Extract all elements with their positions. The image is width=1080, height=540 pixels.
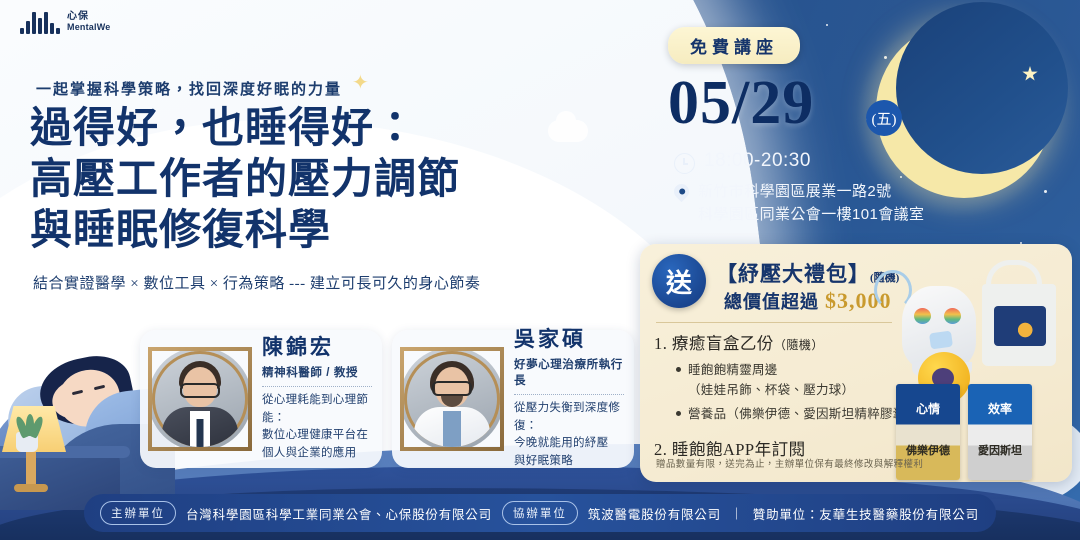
list-item: 1. 療癒盲盒乙份（隨機） 睡飽飽精靈周邊 （娃娃吊飾、杯袋、壓力球） 營養品（… xyxy=(654,330,924,424)
event-time-row: 18:00-20:30 xyxy=(674,150,811,174)
product-box-2-top: 效率 xyxy=(968,400,1032,417)
sponsor-text: 贊助單位：友華生技醫藥股份有限公司 xyxy=(753,504,979,523)
headline-line-1: 過得好，也睡得好： xyxy=(30,104,570,155)
gift-bullet-text: 營養品（佛樂伊德、愛因斯坦精粹膠囊） xyxy=(688,407,918,421)
tote-art xyxy=(994,306,1046,346)
gift-value: 總價值超過$3,000 xyxy=(724,288,892,314)
event-time: 18:00-20:30 xyxy=(704,150,811,172)
supplement-box-2: 效率 愛因斯坦 xyxy=(968,384,1032,480)
gift-title: 【紓壓大禮包】(隨機) xyxy=(716,258,899,288)
headline-subline: 結合實證醫學 × 數位工具 × 行為策略 --- 建立可長可久的身心節奏 xyxy=(33,272,480,293)
speaker-topic-line-2: 數位心理健康平台在 xyxy=(262,427,372,444)
organizer-text: 台灣科學園區科學工業同業公會、心保股份有限公司 xyxy=(186,504,492,523)
headline-line-2: 高壓工作者的壓力調節 xyxy=(30,155,570,206)
gift-card: 送 【紓壓大禮包】(隨機) 總價值超過$3,000 1. 療癒盲盒乙份（隨機） … xyxy=(640,244,1072,482)
avatar xyxy=(400,347,504,451)
speaker-name: 吳家碩 xyxy=(514,328,624,351)
speaker-name: 陳錦宏 xyxy=(262,336,372,359)
speaker-topic-line-1: 從壓力失衡到深度修復： xyxy=(514,400,624,435)
gift-badge: 送 xyxy=(652,254,706,308)
product-box-1-top: 心情 xyxy=(896,400,960,417)
speaker-topic-line-1: 從心理耗能到心理節能： xyxy=(262,392,372,427)
event-address-line-1: 新竹市科學園區展業一路2號 xyxy=(698,180,924,203)
brand-logo[interactable]: 心保 MentalWe xyxy=(20,10,110,34)
poster-root: ✦ ✦ ✦ 心保 MentalWe 一起掌握科學策略，找回深度好眠的力量 ✦ 過… xyxy=(0,0,1080,540)
clock-icon xyxy=(674,153,695,174)
logo-english-name: MentalWe xyxy=(67,23,110,32)
event-address-row: 新竹市科學園區展業一路2號 科學園區同業公會一樓101會議室 xyxy=(674,180,924,227)
speaker-topic-line-2: 今晚就能用的紓壓 xyxy=(514,435,624,452)
speaker-card[interactable]: 陳錦宏 精神科醫師 / 教授 從心理耗能到心理節能： 數位心理健康平台在 個人與… xyxy=(140,330,382,468)
gift-bullet-text: 睡飽飽精靈周邊 xyxy=(688,363,778,377)
speaker-topic-line-3: 個人與企業的應用 xyxy=(262,445,372,462)
product-box-2-bottom: 愛因斯坦 xyxy=(968,442,1032,458)
gift-bullet: 營養品（佛樂伊德、愛因斯坦精粹膠囊） xyxy=(676,404,924,424)
organizer-label: 主辦單位 xyxy=(100,501,176,525)
coorganizer-label: 協辦單位 xyxy=(502,501,578,525)
divider xyxy=(262,386,372,387)
coorganizer-text: 筑波醫電股份有限公司 xyxy=(588,504,721,523)
location-pin-icon xyxy=(671,181,692,202)
logo-chinese-name: 心保 xyxy=(67,12,110,23)
free-lecture-badge: 免費講座 xyxy=(668,27,800,64)
gift-item-number: 1. xyxy=(654,334,667,353)
divider xyxy=(514,394,624,395)
footer-bar: 主辦單位 台灣科學園區科學工業同業公會、心保股份有限公司 協辦單位 筑波醫電股份… xyxy=(84,494,996,532)
gift-bullet: 睡飽飽精靈周邊 （娃娃吊飾、杯袋、壓力球） xyxy=(676,360,924,400)
speaker-role: 精神科醫師 / 教授 xyxy=(262,364,372,380)
speaker-role: 好夢心理治療所執行長 xyxy=(514,356,624,388)
gift-item-label: 療癒盲盒乙份 xyxy=(672,334,774,353)
event-address-line-2: 科學園區同業公會一樓101會議室 xyxy=(698,203,924,226)
sparkle-icon: ✦ xyxy=(352,70,369,95)
speakers-section: 陳錦宏 精神科醫師 / 教授 從心理耗能到心理節能： 數位心理健康平台在 個人與… xyxy=(140,330,634,468)
footer-separator: | xyxy=(735,506,739,520)
page-title: 過得好，也睡得好： 高壓工作者的壓力調節 與睡眠修復科學 xyxy=(30,104,570,258)
speaker-card[interactable]: 吳家碩 好夢心理治療所執行長 從壓力失衡到深度修復： 今晚就能用的紓壓 與好眠策… xyxy=(392,330,634,468)
event-weekday-badge: (五) xyxy=(866,100,902,136)
headline-kicker: 一起掌握科學策略，找回深度好眠的力量 xyxy=(36,78,342,99)
avatar xyxy=(148,347,252,451)
event-date: 05/29 xyxy=(668,72,814,134)
gift-title-main: 【紓壓大禮包】 xyxy=(716,262,870,286)
gift-disclaimer: 贈品數量有限，送完為止，主辦單位保有最終修改與解釋權利 xyxy=(656,456,923,470)
headline-line-3: 與睡眠修復科學 xyxy=(30,206,570,257)
speaker-topic-line-3: 與好眠策略 xyxy=(514,453,624,470)
bar-logo-icon xyxy=(20,10,60,34)
gift-items-list: 1. 療癒盲盒乙份（隨機） 睡飽飽精靈周邊 （娃娃吊飾、杯袋、壓力球） 營養品（… xyxy=(654,330,924,460)
gift-item-note: （隨機） xyxy=(774,338,824,352)
gift-bullet-indent: （娃娃吊飾、杯袋、壓力球） xyxy=(688,380,924,400)
gift-value-label: 總價值超過 xyxy=(724,292,819,312)
divider xyxy=(656,322,892,323)
